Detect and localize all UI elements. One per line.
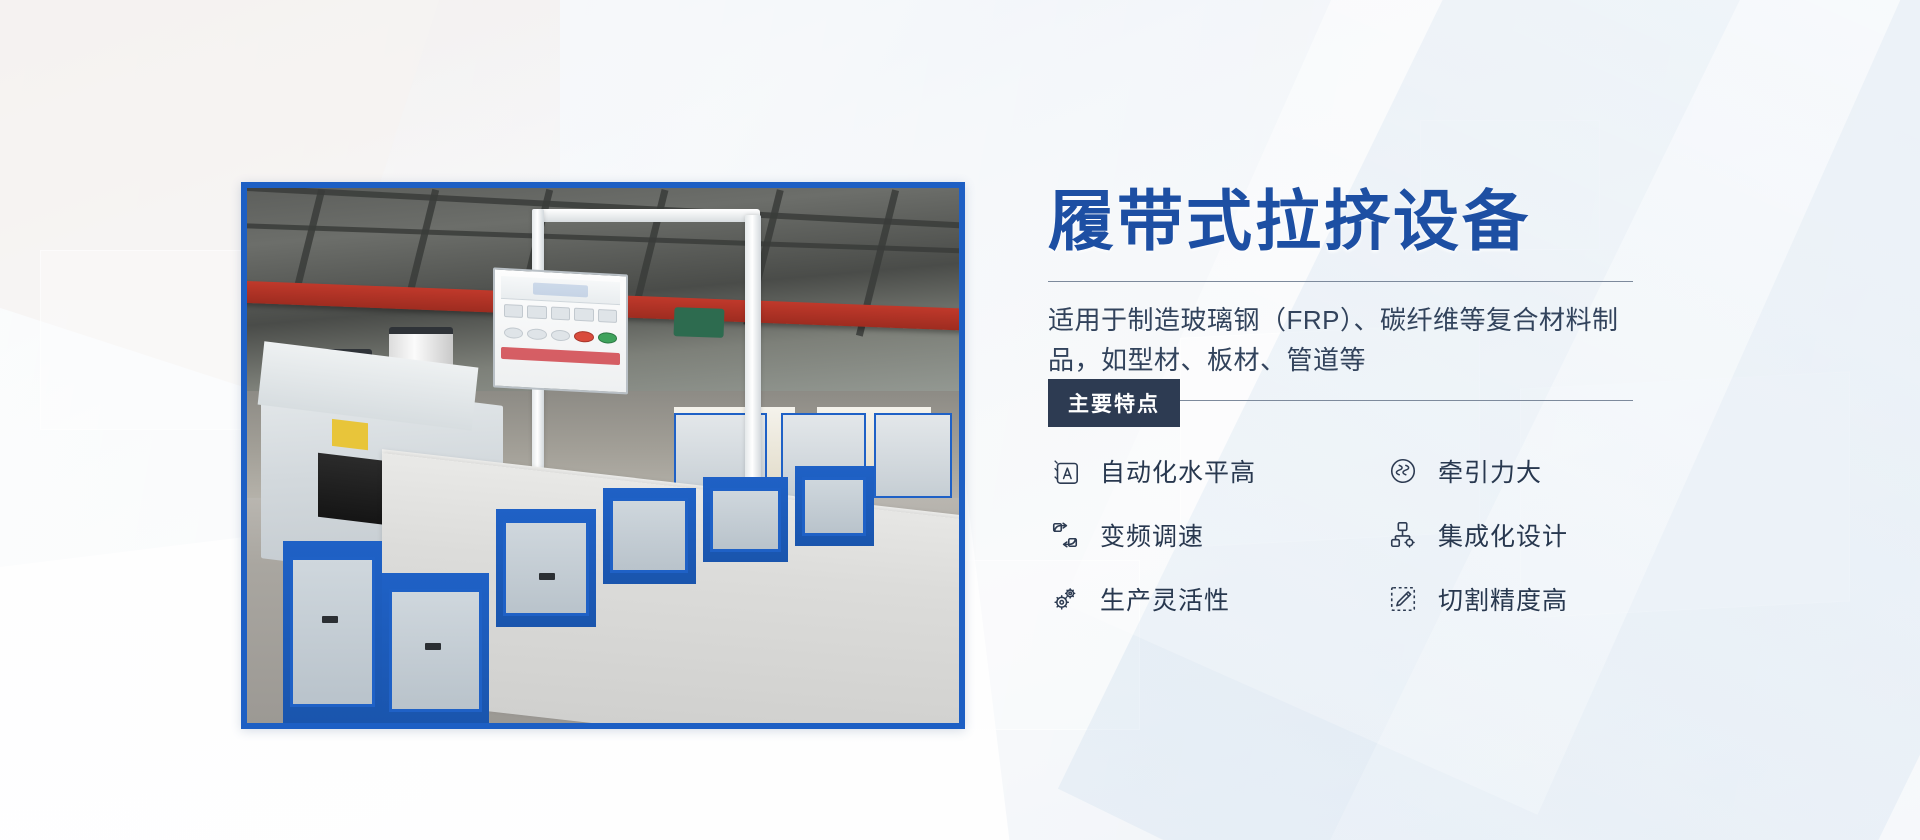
traction-waves-circle-icon [1386, 454, 1420, 488]
photo-cabinet-vent [425, 643, 441, 650]
photo-cabinet-panel [802, 477, 866, 536]
product-photo[interactable] [241, 182, 965, 729]
photo-control-panel-strip [501, 347, 620, 366]
product-photo-image [247, 188, 959, 723]
photo-cabinet-vent [322, 616, 338, 623]
status-badge: 主要特点 [1048, 379, 1180, 427]
feature-list: 自动化水平高 牵引力大 [1048, 453, 1748, 617]
gears-icon [1048, 582, 1082, 616]
feature-item-label: 生产灵活性 [1100, 581, 1230, 617]
page-title: 履带式拉挤设备 [1048, 186, 1748, 257]
feature-item-label: 集成化设计 [1438, 517, 1568, 553]
integrated-nodes-gear-icon [1386, 518, 1420, 552]
frequency-convert-icon [1048, 518, 1082, 552]
feature-item-flexibility[interactable]: 生产灵活性 [1048, 581, 1386, 617]
photo-crane-hoist [674, 308, 725, 339]
feature-item-integrated-design[interactable]: 集成化设计 [1386, 517, 1748, 553]
photo-cabinet-panel [290, 557, 375, 707]
photo-cabinet-panel [710, 488, 781, 552]
feature-item-label: 变频调速 [1100, 517, 1204, 553]
photo-cabinet-panel [610, 498, 688, 573]
title-divider [1048, 281, 1633, 282]
product-hero-banner: 履带式拉挤设备 适用于制造玻璃钢（FRP）、碳纤维等复合材料制品，如型材、板材、… [0, 0, 1920, 840]
precision-pencil-dashed-icon [1386, 582, 1420, 616]
photo-cabinet-panel [389, 589, 482, 712]
photo-control-panel-logo [533, 283, 588, 297]
feature-item-automation[interactable]: 自动化水平高 [1048, 453, 1386, 489]
feature-item-cut-precision[interactable]: 切割精度高 [1386, 581, 1748, 617]
photo-control-panel [493, 267, 628, 394]
feature-item-vfd[interactable]: 变频调速 [1048, 517, 1386, 553]
photo-gantry-beam [532, 209, 760, 222]
feature-item-label: 切割精度高 [1438, 581, 1568, 617]
feature-item-label: 自动化水平高 [1100, 453, 1256, 489]
hero-content: 履带式拉挤设备 适用于制造玻璃钢（FRP）、碳纤维等复合材料制品，如型材、板材、… [1048, 186, 1748, 617]
features-divider: 主要特点 [1048, 400, 1633, 401]
photo-background-machine [874, 413, 952, 499]
photo-cabinet-vent [539, 573, 555, 580]
photo-warning-label [332, 419, 368, 450]
letter-a-box-icon [1048, 454, 1082, 488]
feature-item-label: 牵引力大 [1438, 453, 1542, 489]
background-ghost-box [40, 250, 250, 430]
feature-item-traction[interactable]: 牵引力大 [1386, 453, 1748, 489]
page-subtitle: 适用于制造玻璃钢（FRP）、碳纤维等复合材料制品，如型材、板材、管道等 [1048, 301, 1648, 380]
photo-cabinet-panel [503, 520, 588, 616]
